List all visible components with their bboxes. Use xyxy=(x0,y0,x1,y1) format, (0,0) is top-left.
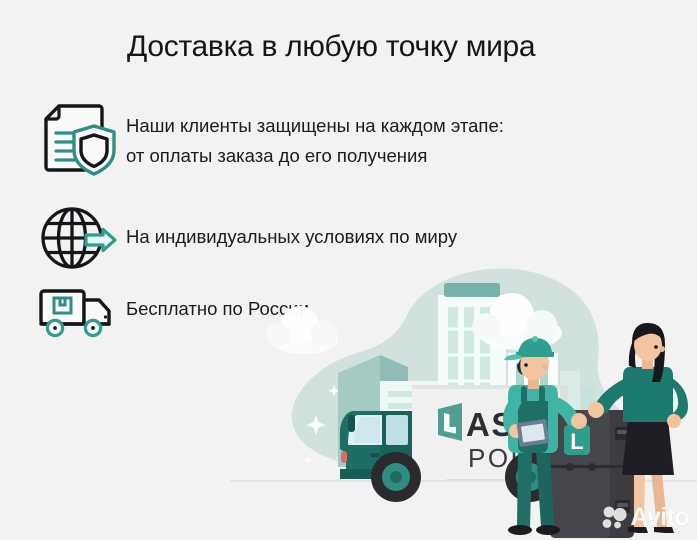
promo-banner: Доставка в любую точку мира xyxy=(0,0,697,540)
large-crate: L xyxy=(550,410,634,538)
crate-badge: L xyxy=(564,425,590,455)
document-shield-icon xyxy=(36,98,120,178)
feature-row-protection: Наши клиенты защищены на каждом этапе: о… xyxy=(36,98,504,178)
delivery-truck-icon xyxy=(36,282,120,342)
feature-line: от оплаты заказа до его получения xyxy=(126,141,504,171)
truck-wheel-front xyxy=(371,452,421,502)
feature-line: На индивидуальных условиях по миру xyxy=(126,222,457,252)
feature-line: Наши клиенты защищены на каждом этапе: xyxy=(126,111,504,141)
clipboard xyxy=(516,419,549,447)
feature-text-protection: Наши клиенты защищены на каждом этапе: о… xyxy=(126,98,504,171)
feature-text-worldwide: На индивидуальных условиях по миру xyxy=(126,200,457,252)
globe-arrow-icon xyxy=(36,200,120,280)
page-title: Доставка в любую точку мира xyxy=(127,30,672,65)
delivery-scene-illustration: ASER PORT xyxy=(230,255,697,540)
svg-text:L: L xyxy=(570,429,583,454)
